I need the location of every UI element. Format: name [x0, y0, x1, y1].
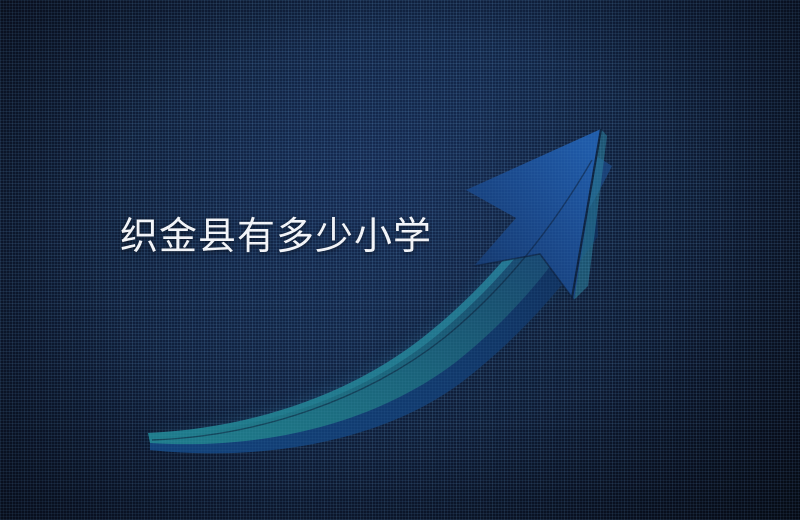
page-title: 织金县有多少小学 [120, 216, 432, 259]
banner-canvas: 织金县有多少小学 [0, 0, 800, 520]
foreground-mesh-overlay [0, 0, 800, 520]
